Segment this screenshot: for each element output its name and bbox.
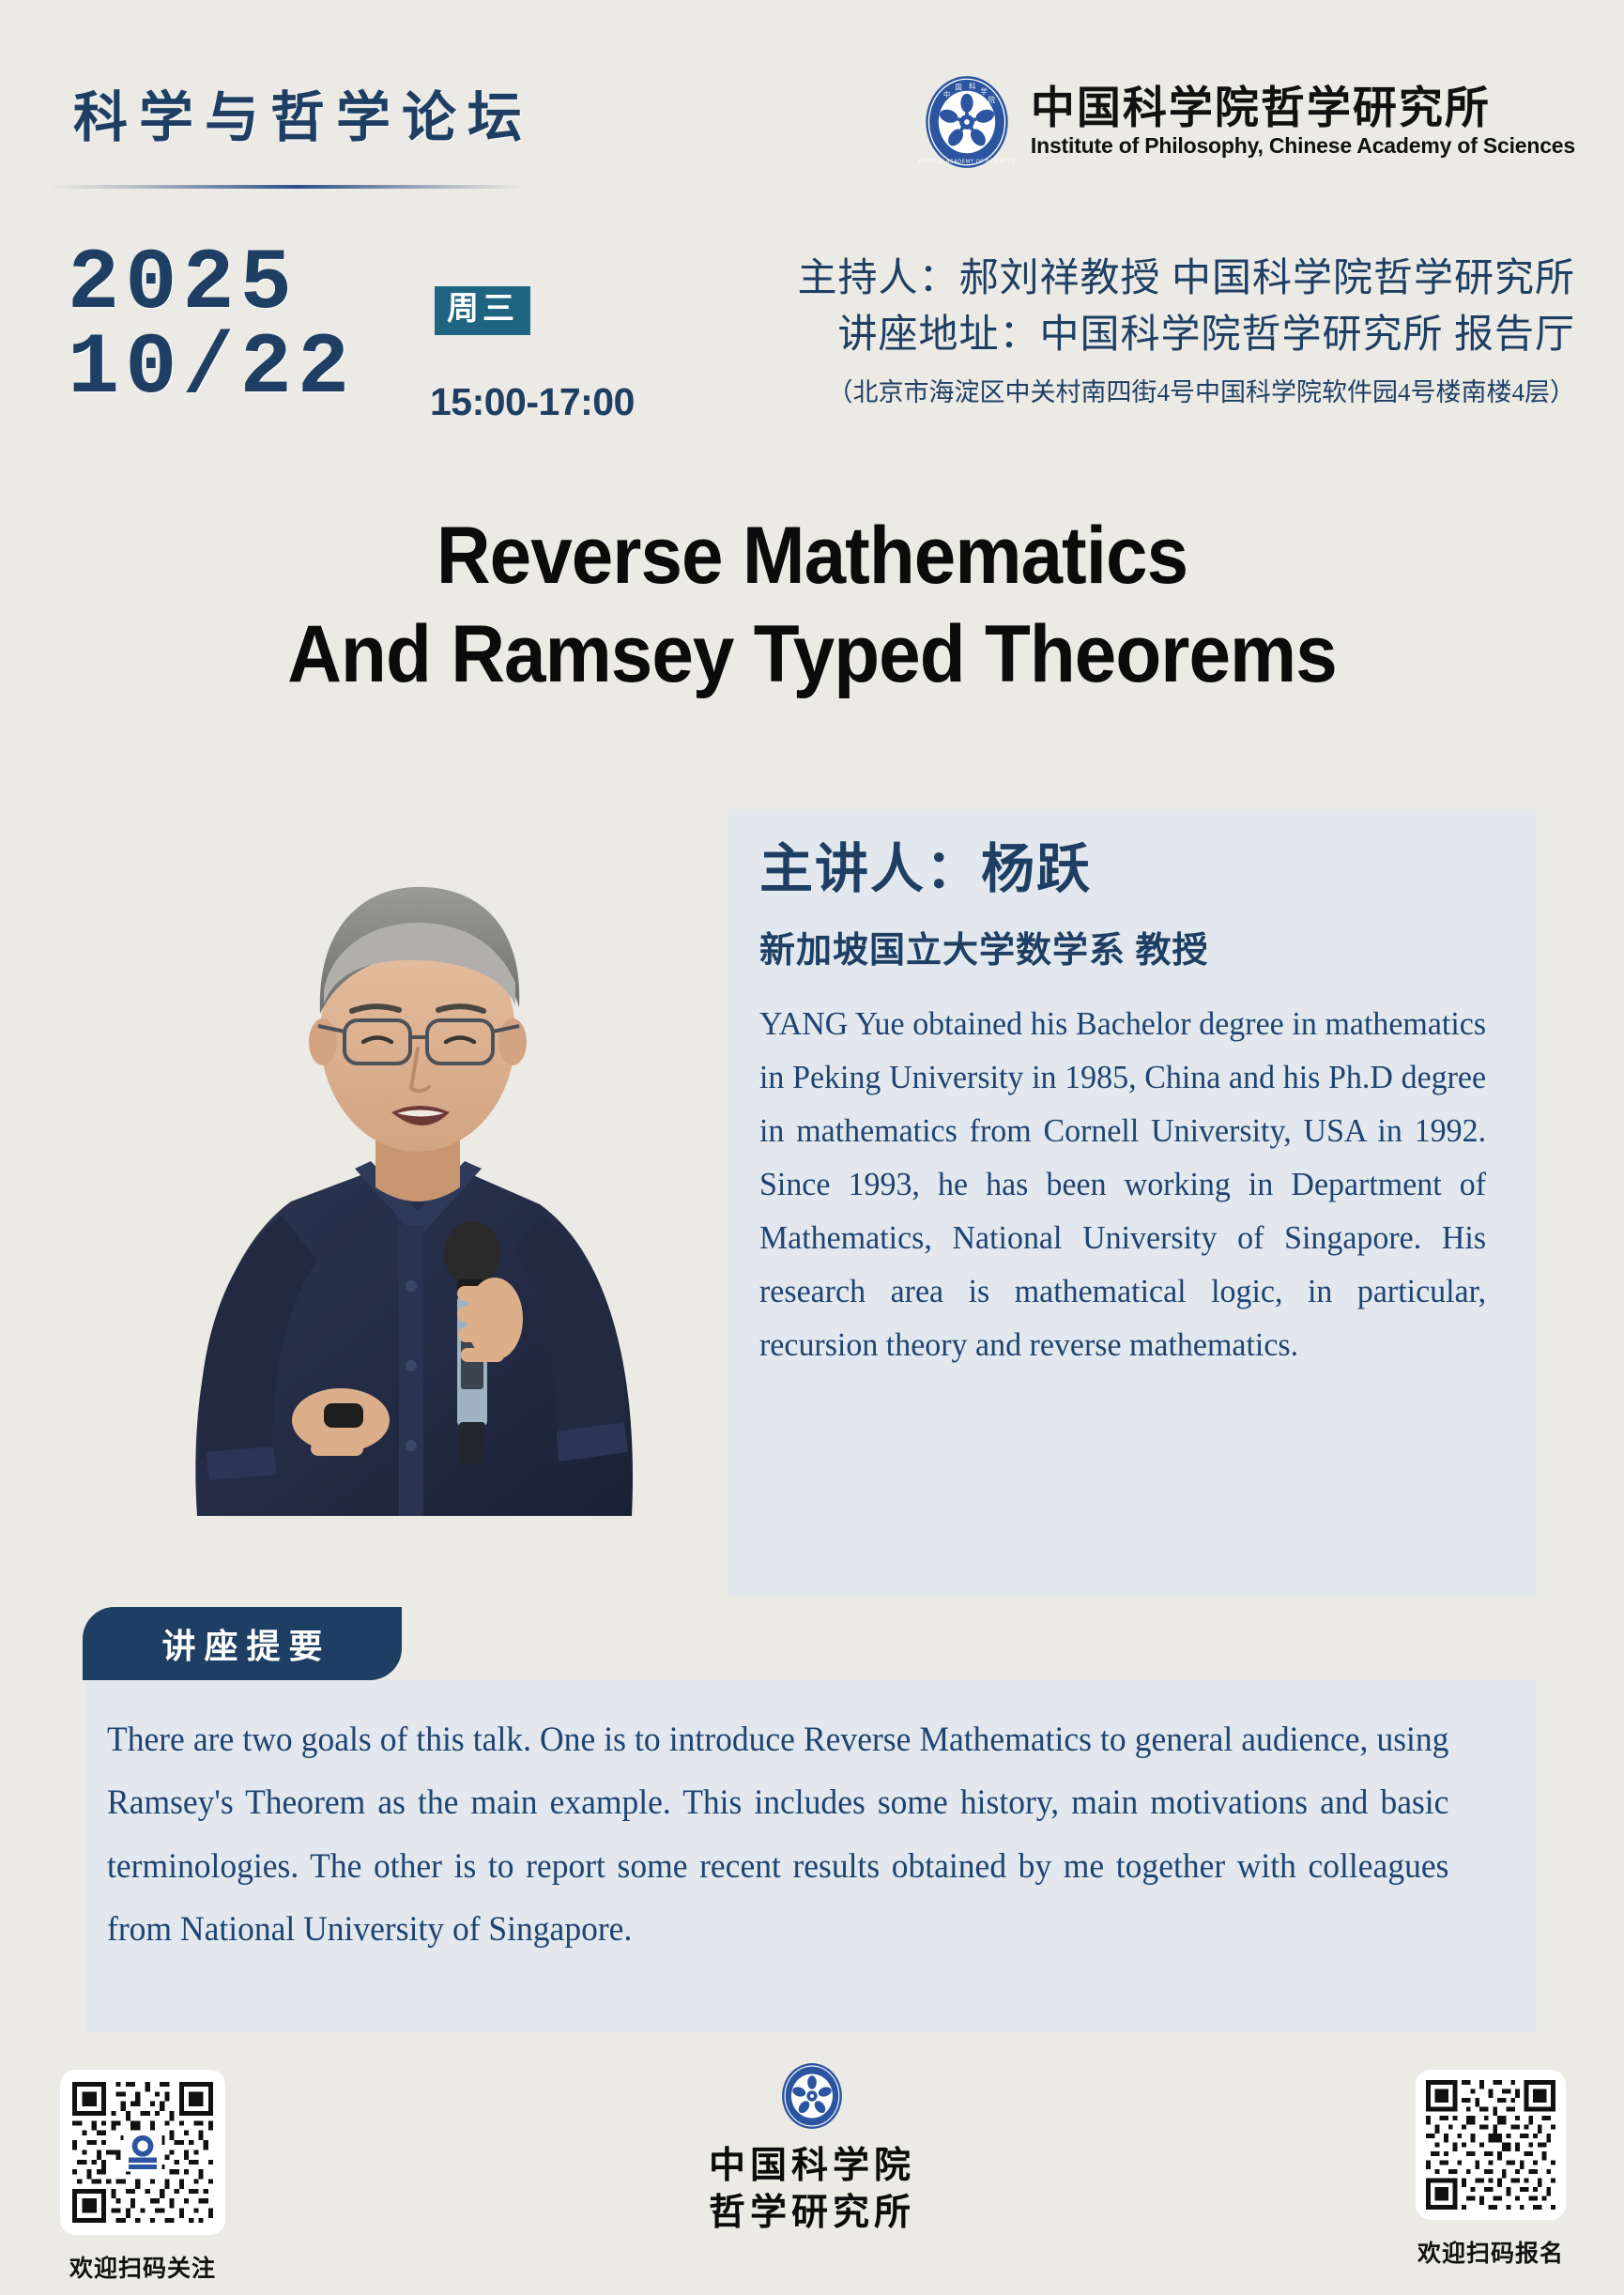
cas-emblem-icon: 中国 科学院 CHINESE ACADEMY OF SCIENCES [918,73,1016,171]
host-line: 主持人：郝刘祥教授 中国科学院哲学研究所 [797,252,1575,308]
event-time: 15:00-17:00 [430,380,635,424]
venue-line: 讲座地址：中国科学院哲学研究所 报告厅 [797,308,1575,364]
event-year: 2025 [68,242,355,327]
speaker-photo-illustration [89,812,690,1516]
event-date: 2025 10/22 [68,242,355,411]
institute-name-cn: 中国科学院哲学研究所 [1031,87,1575,131]
speaker-affiliation: 新加坡国立大学数学系 教授 [759,921,1509,972]
svg-text:学: 学 [980,87,987,96]
qr-follow-card[interactable] [60,2070,225,2235]
forum-title: 科学与哲学论坛 [73,73,533,152]
event-info: 主持人：郝刘祥教授 中国科学院哲学研究所 讲座地址：中国科学院哲学研究所 报告厅… [797,252,1575,408]
cas-emblem-icon [776,2060,848,2132]
qr-register-card[interactable] [1416,2070,1566,2220]
institute-logo: 中国 科学院 CHINESE ACADEMY OF SCIENCES 中国科学院… [918,73,1575,171]
speaker-photo [89,812,690,1516]
qr-code-icon[interactable] [72,2082,213,2223]
qr-code-icon[interactable] [1426,2080,1555,2210]
footer-institute-line1: 中国科学院 [709,2143,915,2190]
speaker-info-panel: 主讲人：杨跃 新加坡国立大学数学系 教授 YANG Yue obtained h… [728,809,1537,1596]
qr-register-caption: 欢迎扫码报名 [1397,2235,1585,2269]
header-divider [49,185,528,189]
svg-text:科: 科 [969,83,975,91]
svg-text:院: 院 [988,96,996,104]
svg-text:中: 中 [943,90,950,99]
talk-title-line1: Reverse Mathematics [57,507,1568,605]
footer-institute-logo: 中国科学院 哲学研究所 [709,2060,915,2237]
speaker-name: 主讲人：杨跃 [759,841,1509,900]
qr-register-block[interactable]: 欢迎扫码报名 [1397,2070,1585,2269]
footer-institute-line2: 哲学研究所 [709,2190,915,2237]
address-line: （北京市海淀区中关村南四街4号中国科学院软件园4号楼南楼4层） [797,372,1575,408]
poster-root: 科学与哲学论坛 中国 [0,0,1624,2295]
page-title: Reverse Mathematics And Ramsey Typed The… [57,507,1568,704]
speaker-bio: YANG Yue obtained his Bachelor degree in… [759,997,1486,1371]
abstract-panel: There are two goals of this talk. One is… [86,1680,1537,2032]
qr-follow-caption: 欢迎扫码关注 [49,2250,237,2284]
svg-text:CHINESE ACADEMY OF SCIENCES: CHINESE ACADEMY OF SCIENCES [919,160,1016,165]
event-monthday: 10/22 [68,327,355,411]
abstract-tab-label: 讲座提要 [83,1607,402,1680]
weekday-badge: 周三 [435,286,530,335]
svg-text:国: 国 [955,84,961,92]
qr-follow-block[interactable]: 欢迎扫码关注 [49,2070,237,2284]
talk-title-line2: And Ramsey Typed Theorems [57,605,1568,704]
institute-name-en: Institute of Philosophy, Chinese Academy… [1031,135,1575,157]
abstract-text: There are two goals of this talk. One is… [107,1708,1448,1961]
